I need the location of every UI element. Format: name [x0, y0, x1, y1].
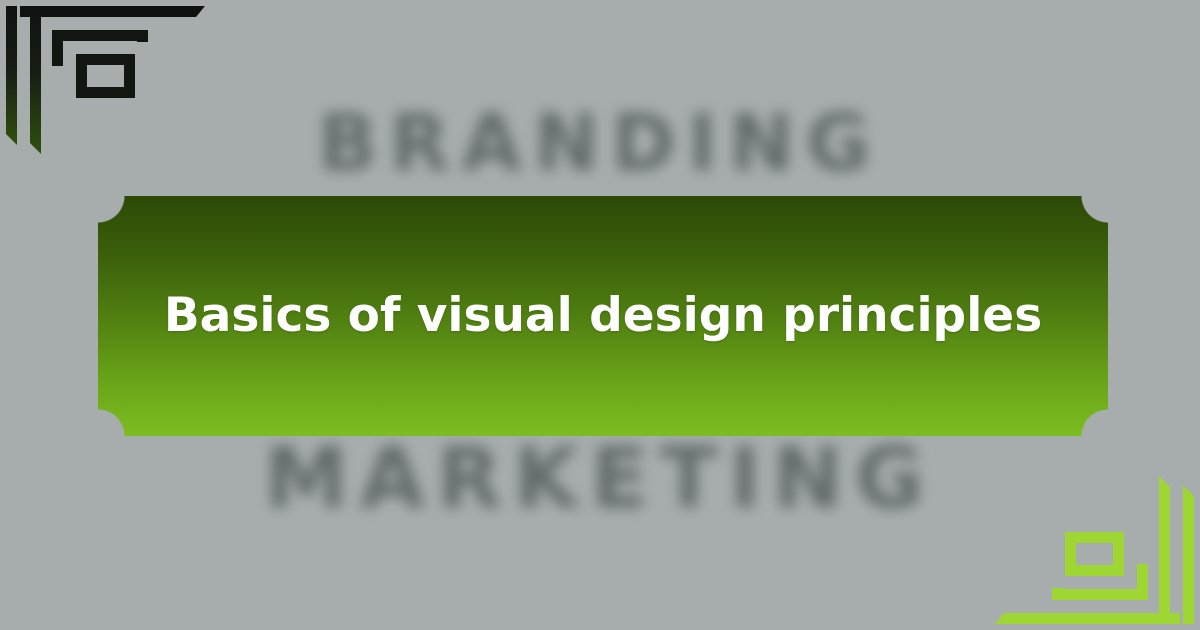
background-word-branding: BRANDING — [0, 96, 1200, 192]
page-title-text: Basics of visual design principles — [164, 288, 1042, 344]
background-word-marketing: MARKETING — [0, 428, 1200, 528]
title-banner: Basics of visual design principles — [98, 196, 1108, 436]
slide-canvas: BRANDING MARKETING — [0, 0, 1200, 630]
page-title: Basics of visual design principles — [98, 196, 1108, 436]
